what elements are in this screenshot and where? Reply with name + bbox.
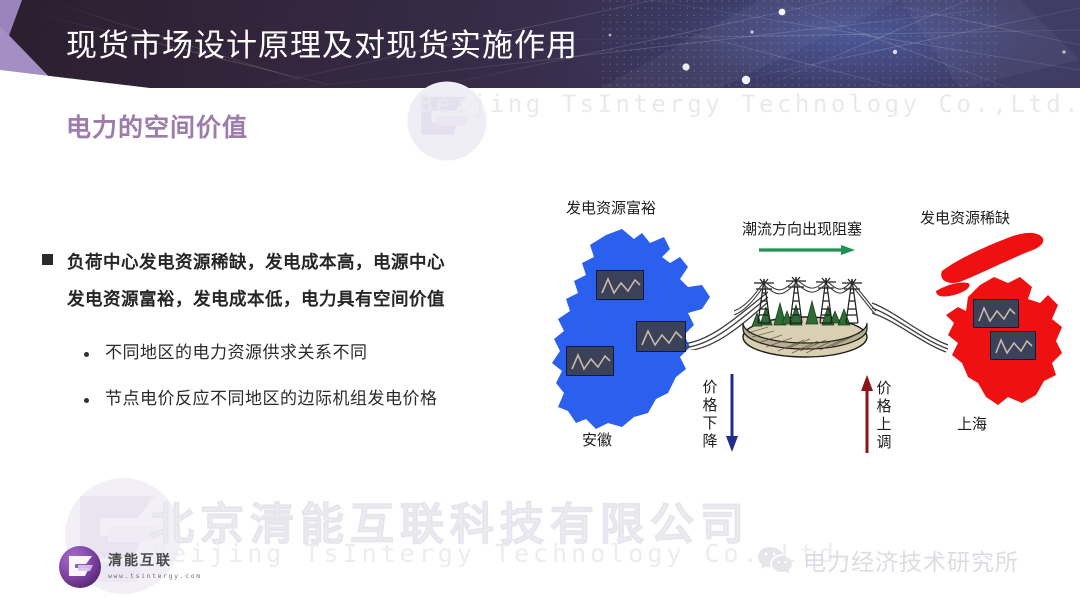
list-item: 节点电价反应不同地区的边际机组发电价格 xyxy=(84,387,542,411)
price-chart-box xyxy=(566,346,614,376)
slide-header: 现货市场设计原理及对现货实施作用 xyxy=(0,0,1080,88)
dot-bullet-icon xyxy=(84,398,89,403)
price-chart-box xyxy=(973,299,1019,328)
footer-logo-cn: 清能互联 xyxy=(108,554,202,569)
section-subtitle: 电力的空间价值 xyxy=(66,108,248,144)
label-generation-scarce: 发电资源稀缺 xyxy=(920,207,1010,228)
price-chart-box xyxy=(596,270,644,300)
footer-logo-text: 清能互联 www.tsintergy.com xyxy=(108,554,202,580)
price-up-arrow-icon xyxy=(860,373,874,455)
watermark-top-text: Beijing TsIntergy Technology Co.,Ltd. xyxy=(418,90,1080,118)
bullet-sub-text: 不同地区的电力资源供求关系不同 xyxy=(105,341,368,365)
page-title: 现货市场设计原理及对现货实施作用 xyxy=(66,20,578,65)
flow-direction-arrow-icon xyxy=(757,244,857,256)
wechat-account-name: 电力经济技术研究所 xyxy=(803,543,1019,577)
label-price-up: 价格上调 xyxy=(876,379,892,451)
bullet-main: 负荷中心发电资源稀缺，发电成本高，电源中心 发电资源富裕，发电成本低，电力具有空… xyxy=(42,245,542,319)
tsintergy-logo-icon xyxy=(58,545,102,589)
wechat-account-badge: 电力经济技术研究所 xyxy=(757,543,1019,577)
transmission-towers-illustration xyxy=(734,267,876,359)
watermark-company-cn: 北京清能互联科技有限公司 xyxy=(150,488,750,552)
power-map-diagram: 发电资源富裕 潮流方向出现阻塞 发电资源稀缺 安徽 上海 xyxy=(520,185,1080,475)
label-region-shanghai: 上海 xyxy=(957,413,987,434)
price-down-arrow-icon xyxy=(725,372,739,454)
square-bullet-icon xyxy=(42,254,53,265)
label-power-flow: 潮流方向出现阻塞 xyxy=(742,218,862,239)
price-chart-box xyxy=(636,321,686,352)
bullet-sub-text: 节点电价反应不同地区的边际机组发电价格 xyxy=(105,387,438,411)
label-price-down: 价格下降 xyxy=(702,378,718,450)
price-chart-box xyxy=(990,331,1036,360)
footer-company-logo: 清能互联 www.tsintergy.com xyxy=(58,545,202,589)
bullet-main-text: 负荷中心发电资源稀缺，发电成本高，电源中心 发电资源富裕，发电成本低，电力具有空… xyxy=(67,245,445,319)
watermark-top-logo xyxy=(404,78,490,164)
bullet-list: 负荷中心发电资源稀缺，发电成本高，电源中心 发电资源富裕，发电成本低，电力具有空… xyxy=(42,245,542,411)
dot-bullet-icon xyxy=(84,352,89,357)
watermark-company-en: Beijing TsIntergy Technology Co.,Ltd. xyxy=(152,539,857,568)
list-item: 不同地区的电力资源供求关系不同 xyxy=(84,341,542,365)
footer-logo-url: www.tsintergy.com xyxy=(108,572,202,580)
label-generation-rich: 发电资源富裕 xyxy=(566,197,656,218)
wechat-icon xyxy=(757,545,793,575)
